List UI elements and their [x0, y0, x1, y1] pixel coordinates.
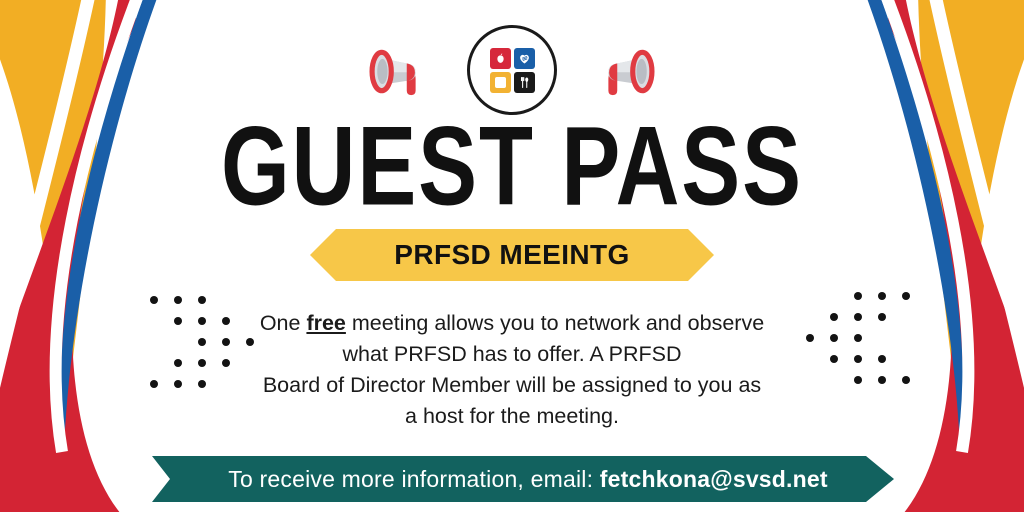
body-line4: a host for the meeting. [405, 404, 619, 428]
contact-email[interactable]: fetchkona@svsd.net [600, 466, 828, 492]
contact-banner: To receive more information, email: fetc… [152, 456, 894, 502]
book-icon-tile [490, 72, 511, 93]
subtitle-banner: PRFSD MEEINTG [310, 229, 714, 281]
subtitle-banner-label: PRFSD MEEINTG [394, 239, 629, 271]
heart-hands-icon-tile [514, 48, 535, 69]
guest-pass-flyer: GUEST PASS PRFSD MEEINTG [0, 0, 1024, 512]
megaphone-icon [595, 39, 669, 101]
page-title: GUEST PASS [20, 108, 1003, 225]
body-line2: what PRFSD has to offer. A PRFSD [343, 342, 682, 366]
contact-banner-prefix: To receive more information, email: [228, 466, 600, 492]
body-line1-after: meeting allows you to network and observ… [346, 311, 764, 335]
body-line1-before: One [260, 311, 307, 335]
body-line3: Board of Director Member will be assigne… [263, 373, 761, 397]
body-line1-emphasis: free [306, 311, 345, 335]
utensils-icon-tile [514, 72, 535, 93]
megaphone-icon [355, 39, 429, 101]
logo-tile-grid [490, 48, 535, 93]
organization-logo-icon [467, 25, 557, 115]
flyer-header [0, 24, 1024, 116]
contact-banner-text: To receive more information, email: fetc… [218, 466, 828, 493]
body-copy: One free meeting allows you to network a… [180, 308, 844, 432]
apple-icon-tile [490, 48, 511, 69]
